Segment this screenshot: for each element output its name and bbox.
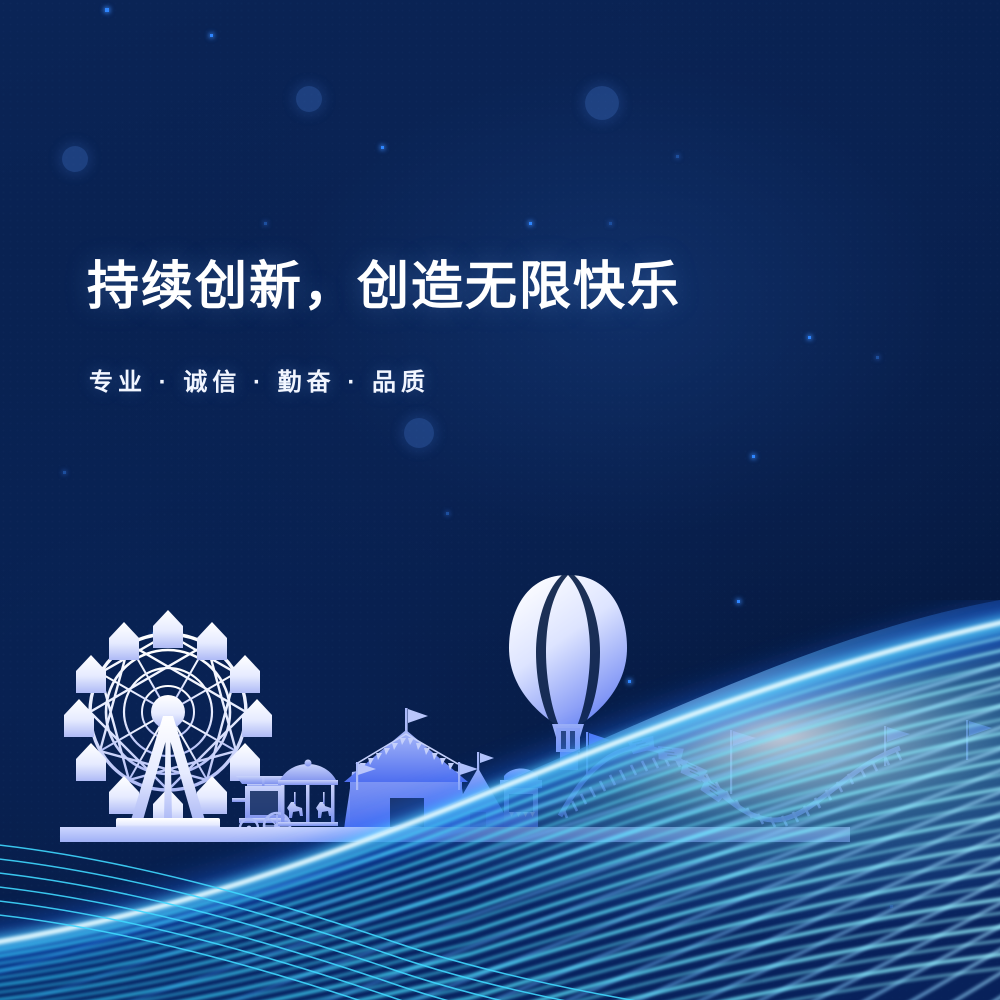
star-particle: [62, 146, 88, 172]
hero-copy-block: 持续创新，创造无限快乐 专业 · 诚信 · 勤奋 · 品质: [87, 258, 681, 397]
star-particle: [529, 222, 532, 225]
star-particle: [676, 155, 679, 158]
star-particle: [381, 146, 384, 149]
star-particle: [210, 34, 213, 37]
star-particle: [404, 418, 434, 448]
star-particle: [296, 86, 322, 112]
star-particle: [446, 512, 449, 515]
star-particle: [63, 471, 66, 474]
star-particle: [752, 455, 755, 458]
star-particle: [808, 336, 811, 339]
star-particle: [105, 8, 109, 12]
neon-mesh-wave: [0, 600, 1000, 1000]
hero-subtitle: 专业 · 诚信 · 勤奋 · 品质: [89, 362, 681, 397]
star-particle: [609, 222, 612, 225]
poster-canvas: 持续创新，创造无限快乐 专业 · 诚信 · 勤奋 · 品质: [0, 0, 1000, 1000]
page-title: 持续创新，创造无限快乐: [87, 258, 681, 316]
star-particle: [264, 222, 267, 225]
star-particle: [876, 356, 879, 359]
star-particle: [585, 86, 619, 120]
